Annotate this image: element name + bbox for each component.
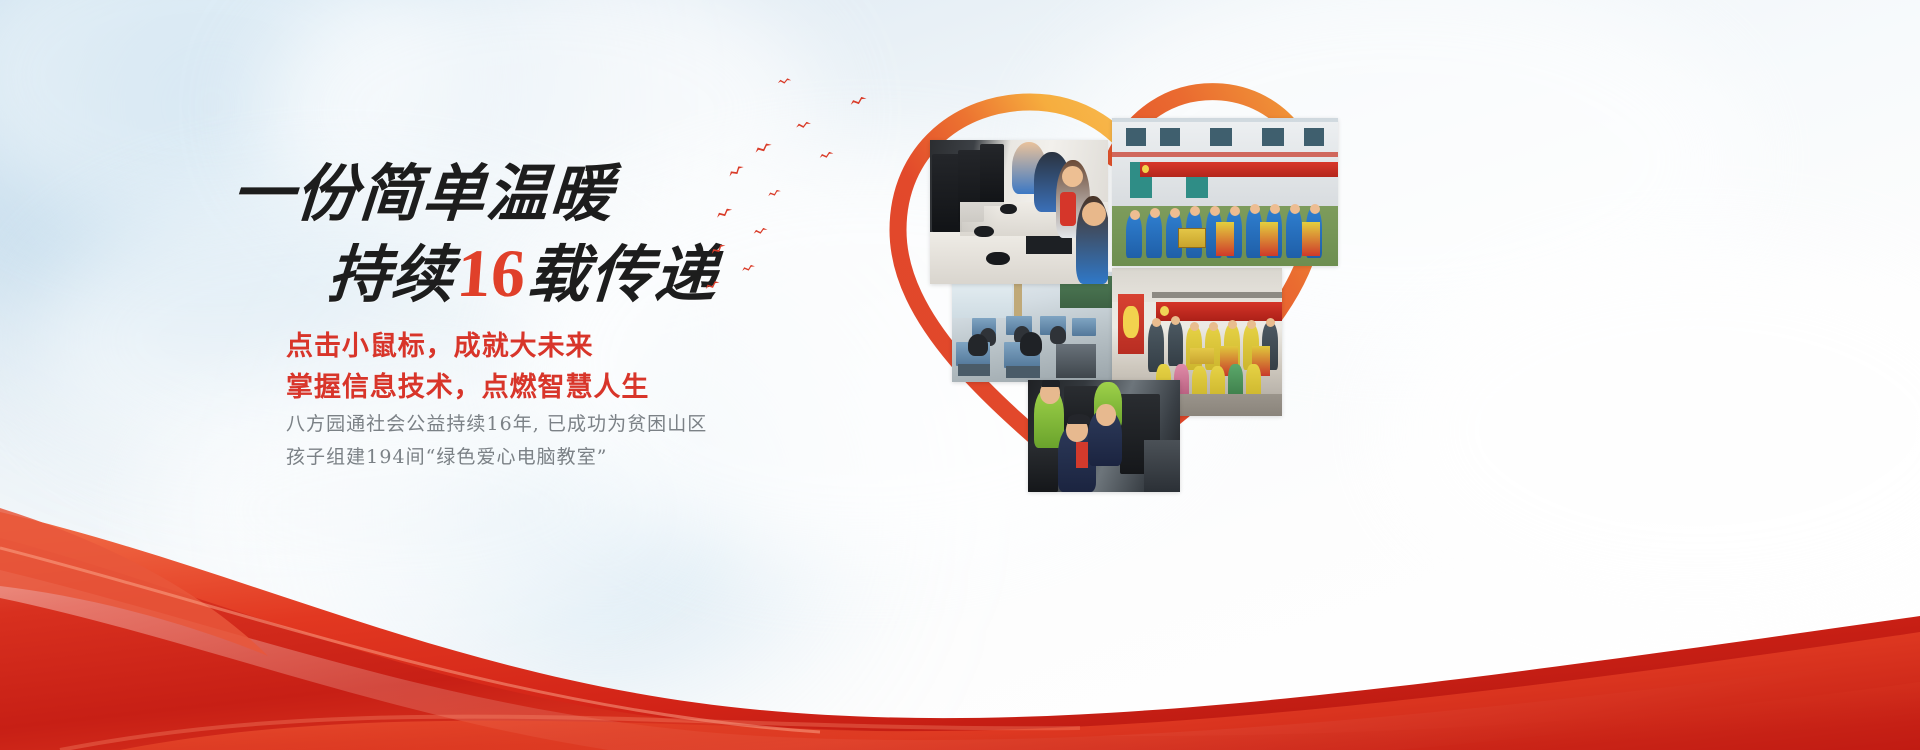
photo-content — [1112, 118, 1338, 266]
headline-year-count: 16 — [453, 235, 530, 311]
headline-line-2-suffix: 载传递 — [525, 238, 721, 311]
description-line-2: 孩子组建194间“绿色爱心电脑教室” — [286, 441, 707, 474]
description-line-1: 八方园通社会公益持续16年, 已成功为贫困山区 — [286, 408, 707, 441]
subtitle-line-1: 点击小鼠标，成就大未来 — [286, 326, 649, 367]
charity-banner: 一份简单温暖 持续16载传递 点击小鼠标，成就大未来 掌握信息技术，点燃智慧人生… — [0, 0, 1920, 750]
photo-content — [930, 140, 1108, 284]
subtitle: 点击小鼠标，成就大未来 掌握信息技术，点燃智慧人生 — [286, 326, 649, 408]
photo-school-donation-ceremony — [1112, 118, 1338, 266]
photo-content — [1028, 380, 1180, 492]
photo-students-computers — [930, 140, 1108, 284]
photo-content — [952, 272, 1114, 382]
photo-computer-classroom — [952, 272, 1114, 382]
headline-line-2-prefix: 持续 — [325, 238, 457, 311]
description-text: 八方园通社会公益持续16年, 已成功为贫困山区 孩子组建194间“绿色爱心电脑教… — [286, 408, 707, 473]
heart-photo-collage — [840, 40, 1540, 560]
subtitle-line-2: 掌握信息技术，点燃智慧人生 — [286, 367, 649, 408]
photo-boys-at-monitors — [1028, 380, 1180, 492]
